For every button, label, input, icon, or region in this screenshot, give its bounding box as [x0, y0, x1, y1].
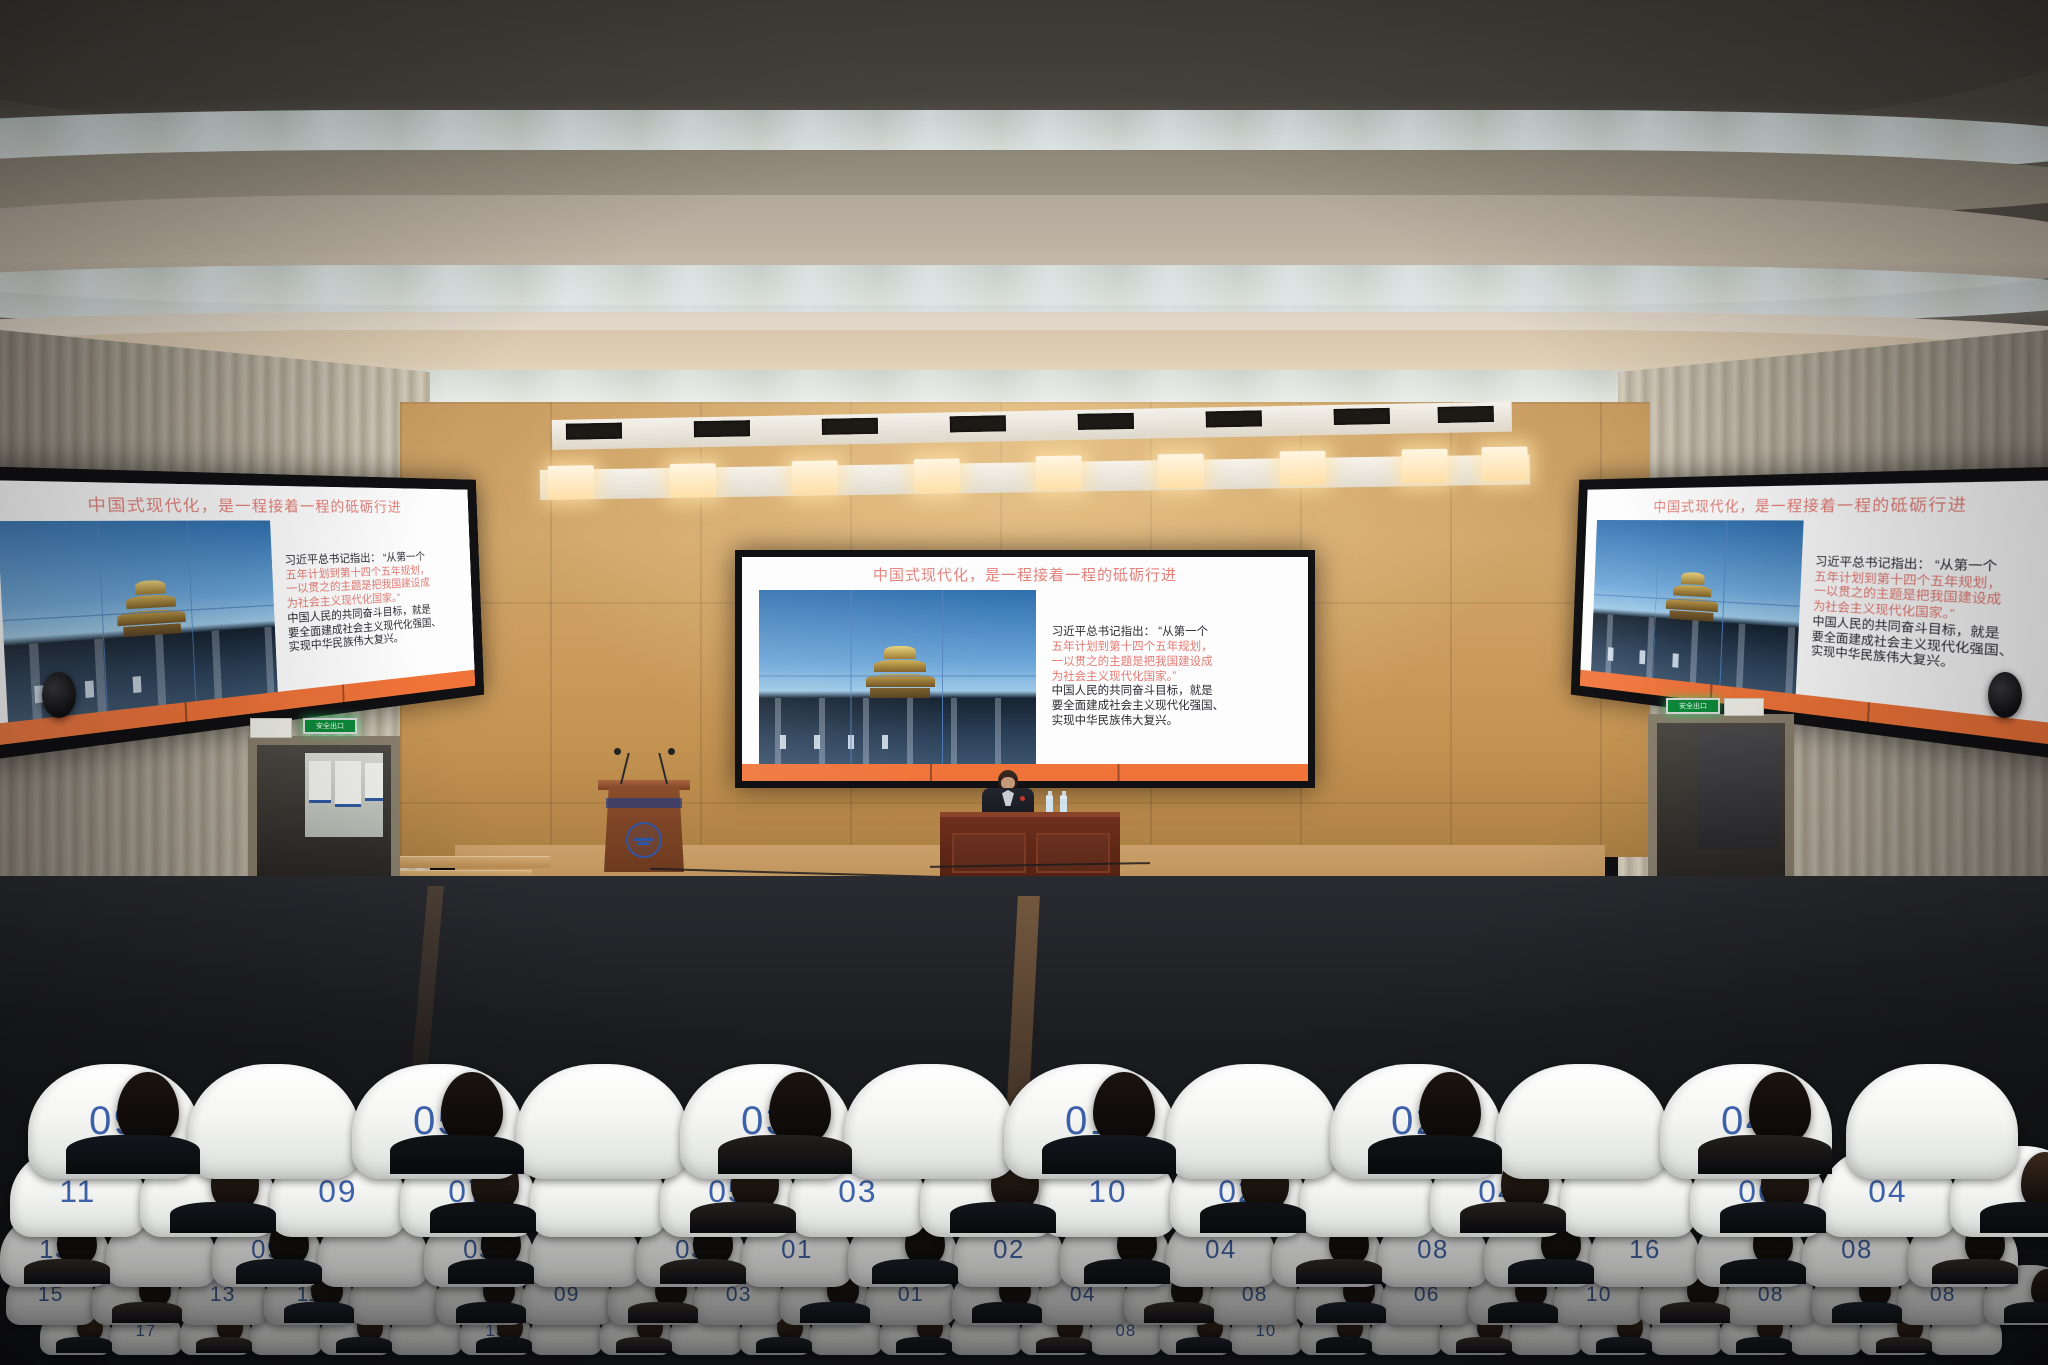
audience-shoulders [430, 1202, 536, 1233]
audience-shoulders [950, 1202, 1056, 1233]
audience-head [441, 1072, 503, 1144]
slide-paragraph: 一以贯之的主题是把我国建设成 [1052, 655, 1291, 670]
audience-head [769, 1072, 831, 1144]
audience-shoulders [1736, 1337, 1792, 1353]
exit-sign-left: 安全出口 [303, 718, 357, 734]
microphone-head-icon [614, 748, 621, 755]
seat[interactable] [516, 1064, 688, 1179]
audience-shoulders [112, 1302, 182, 1322]
slide-text-block: 习近平总书记指出： “从第一个 五年计划到第十四个五年规划， 一以贯之的主题是把… [283, 520, 464, 690]
slide-paragraph: 为社会主义现代化国家。” [1052, 670, 1291, 685]
slide-photo [759, 590, 1036, 764]
left-wall-speaker [42, 672, 76, 718]
audience-shoulders [1698, 1135, 1832, 1174]
audience-shoulders [1042, 1135, 1176, 1174]
side-aisle [412, 886, 444, 1066]
audience-shoulders [718, 1135, 852, 1174]
speaker-lapel-badge [1020, 796, 1025, 801]
seat[interactable] [1496, 1064, 1668, 1179]
audience-shoulders [1176, 1337, 1232, 1353]
slide-title: 中国式现代化，是一程接着一程的砥砺行进 [0, 480, 469, 521]
audience-shoulders [1456, 1337, 1512, 1353]
audience-shoulders [196, 1337, 252, 1353]
audience-shoulders [1200, 1202, 1306, 1233]
slide-photo [1591, 520, 1803, 694]
audience-shoulders [1460, 1202, 1566, 1233]
exit-sign-right: 安全出口 [1666, 698, 1720, 714]
audience-shoulders [800, 1302, 870, 1322]
lectern-name-band [606, 798, 682, 808]
seat[interactable] [188, 1064, 360, 1179]
audience-shoulders [1368, 1135, 1502, 1174]
right-wall-notice [1724, 698, 1764, 716]
audience-shoulders [236, 1259, 322, 1284]
audience-shoulders [24, 1259, 110, 1284]
audience-shoulders [628, 1302, 698, 1322]
audience-shoulders [284, 1302, 354, 1322]
audience-shoulders [170, 1202, 276, 1233]
audience-seating-area: 0905030102041109070503100204060413090503… [0, 876, 2048, 1365]
right-doorway[interactable] [1648, 714, 1794, 886]
audience-shoulders [1508, 1259, 1594, 1284]
presentation-slide-main: 中国式现代化，是一程接着一程的砥砺行进 习近平总书记指出： “从第一个 五年计划… [742, 557, 1308, 781]
left-doorway[interactable] [248, 736, 400, 886]
audience-head [1093, 1072, 1155, 1144]
audience-shoulders [1316, 1302, 1386, 1322]
slide-paragraph: 中国人民的共同奋斗目标，就是 [1052, 684, 1291, 699]
audience-shoulders [1660, 1302, 1730, 1322]
audience-shoulders [616, 1337, 672, 1353]
audience-shoulders [1084, 1259, 1170, 1284]
slide-paragraph: 五年计划到第十四个五年规划， [1052, 640, 1291, 655]
audience-shoulders [660, 1259, 746, 1284]
audience-shoulders [1596, 1337, 1652, 1353]
audience-shoulders [448, 1259, 534, 1284]
seat-number: 01 [781, 1236, 813, 1265]
audience-shoulders [1144, 1302, 1214, 1322]
slide-paragraph: 实现中华民族伟大复兴。 [1052, 714, 1291, 729]
audience-shoulders [390, 1135, 524, 1174]
right-wall-speaker [1988, 672, 2022, 718]
seat[interactable] [1846, 1064, 2018, 1179]
audience-shoulders [336, 1337, 392, 1353]
slide-title: 中国式现代化，是一程接着一程的砥砺行进 [1586, 480, 2048, 521]
slide-title: 中国式现代化，是一程接着一程的砥砺行进 [742, 557, 1308, 590]
audience-shoulders [66, 1135, 200, 1174]
audience-head [1749, 1072, 1811, 1144]
audience-shoulders [1720, 1259, 1806, 1284]
left-wall-notice [250, 718, 292, 738]
seat-number: 08 [1841, 1236, 1873, 1265]
speaker-desk [940, 812, 1120, 884]
seat[interactable] [844, 1064, 1016, 1179]
audience-shoulders [1932, 1259, 2018, 1284]
slide-text-block: 习近平总书记指出： “从第一个 五年计划到第十四个五年规划， 一以贯之的主题是把… [1052, 590, 1291, 764]
audience-shoulders [56, 1337, 112, 1353]
audience-shoulders [1832, 1302, 1902, 1322]
audience-shoulders [1720, 1202, 1826, 1233]
audience-shoulders [872, 1259, 958, 1284]
audience-shoulders [2004, 1302, 2048, 1322]
audience-shoulders [1316, 1337, 1372, 1353]
microphone-head-icon [668, 748, 675, 755]
audience-shoulders [896, 1337, 952, 1353]
exit-sign-label: 安全出口 [1679, 703, 1707, 710]
audience-head [1419, 1072, 1481, 1144]
seat[interactable] [1166, 1064, 1338, 1179]
slide-paragraph: 习近平总书记指出： “从第一个 [1052, 625, 1291, 640]
exit-sign-label: 安全出口 [316, 723, 344, 730]
audience-head [117, 1072, 179, 1144]
speaker-person [978, 770, 1038, 818]
audience-shoulders [1876, 1337, 1932, 1353]
auditorium-photo: 中国式现代化，是一程接着一程的砥砺行进 习近平总书记指出： “从第一个 五年计划… [0, 0, 2048, 1365]
seat-number: 04 [1205, 1236, 1237, 1265]
audience-shoulders [756, 1337, 812, 1353]
audience-shoulders [476, 1337, 532, 1353]
audience-shoulders [1488, 1302, 1558, 1322]
seat-number: 16 [1629, 1236, 1661, 1265]
main-stage-video-wall[interactable]: 中国式现代化，是一程接着一程的砥砺行进 习近平总书记指出： “从第一个 五年计划… [735, 550, 1315, 788]
audience-shoulders [972, 1302, 1042, 1322]
audience-shoulders [456, 1302, 526, 1322]
seat-number: 02 [993, 1236, 1025, 1265]
audience-shoulders [1980, 1202, 2048, 1233]
seat-number: 08 [1417, 1236, 1449, 1265]
audience-shoulders [1296, 1259, 1382, 1284]
audience-shoulders [1036, 1337, 1092, 1353]
university-crest-icon [626, 822, 662, 858]
audience-shoulders [690, 1202, 796, 1233]
slide-paragraph: 要全面建成社会主义现代化强国、 [1052, 699, 1291, 714]
